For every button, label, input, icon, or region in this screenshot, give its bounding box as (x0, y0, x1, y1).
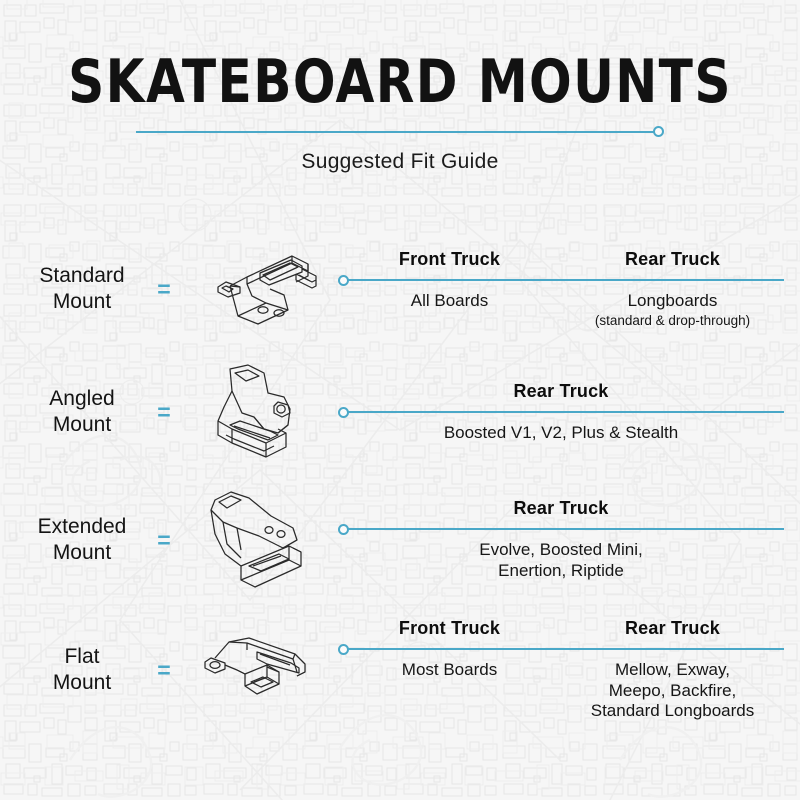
mount-name-angled: Angled Mount (18, 386, 146, 438)
truck-column-rear: Rear Truck (338, 498, 784, 522)
mount-row-flat: Flat Mount = (0, 604, 800, 736)
truck-column-rear: Rear Truck (561, 618, 784, 642)
truck-column-rear-value: Longboards (standard & drop-through) (561, 286, 784, 329)
truck-heading: Front Truck (342, 618, 557, 639)
truck-boards-note: (standard & drop-through) (565, 313, 780, 329)
equals-icon-left: = (146, 529, 182, 552)
fit-info-standard: Front Truck Rear Truck All Boards Long (332, 249, 784, 329)
truck-column-rear: Rear Truck (338, 381, 784, 405)
truck-boards: Boosted V1, V2, Plus & Stealth (342, 423, 780, 444)
row-divider (338, 524, 784, 535)
mount-row-angled: Angled Mount = (0, 348, 800, 476)
truck-boards: All Boards (342, 291, 557, 312)
mount-name-line2: Mount (18, 412, 146, 438)
truck-column-rear-value: Evolve, Boosted Mini, Enertion, Riptide (338, 535, 784, 581)
truck-column-front: Front Truck (338, 249, 561, 273)
mount-name-flat: Flat Mount (18, 644, 146, 696)
row-divider-line (344, 411, 784, 413)
truck-column-front-value: All Boards (338, 286, 561, 329)
equals-icon-left: = (146, 278, 182, 301)
truck-column-rear: Rear Truck (561, 249, 784, 273)
truck-column-rear-value: Mellow, Exway, Meepo, Backfire, Standard… (561, 655, 784, 722)
mount-name-line1: Extended (18, 514, 146, 540)
truck-column-front-value: Most Boards (338, 655, 561, 722)
fit-info-flat: Front Truck Rear Truck Most Boards Mel (332, 618, 784, 722)
truck-boards: Longboards (565, 291, 780, 312)
truck-heading: Rear Truck (565, 249, 780, 270)
row-divider-line (344, 528, 784, 530)
truck-heading: Rear Truck (342, 498, 780, 519)
fit-info-extended: Rear Truck Evolve, Boosted Mini, Enertio… (332, 498, 784, 581)
infographic-page: SKATEBOARD MOUNTS Suggested Fit Guide St… (0, 0, 800, 800)
mount-name-line2: Mount (18, 670, 146, 696)
angled-mount-drawing (182, 360, 332, 464)
truck-headings-row: Front Truck Rear Truck (338, 249, 784, 273)
circle-endpoint-icon (338, 407, 349, 418)
truck-boards: Most Boards (342, 660, 557, 681)
mount-row-standard: Standard Mount = (0, 230, 800, 348)
title-divider (136, 126, 664, 138)
truck-heading: Front Truck (342, 249, 557, 270)
equals-icon-left: = (146, 659, 182, 682)
truck-values-row: All Boards Longboards (standard & drop-t… (338, 286, 784, 329)
circle-endpoint-icon (653, 126, 664, 137)
truck-column-rear-value: Boosted V1, V2, Plus & Stealth (338, 418, 784, 444)
equals-icon-left: = (146, 401, 182, 424)
mount-name-line1: Standard (18, 263, 146, 289)
truck-values-row: Evolve, Boosted Mini, Enertion, Riptide (338, 535, 784, 581)
truck-headings-row: Front Truck Rear Truck (338, 618, 784, 642)
truck-headings-row: Rear Truck (338, 381, 784, 405)
mount-name-extended: Extended Mount (18, 514, 146, 566)
row-divider (338, 407, 784, 418)
row-divider (338, 275, 784, 286)
fit-info-angled: Rear Truck Boosted V1, V2, Plus & Stealt… (332, 381, 784, 444)
truck-heading: Rear Truck (342, 381, 780, 402)
mount-name-line2: Mount (18, 289, 146, 315)
row-divider-line (344, 648, 784, 650)
mount-rows: Standard Mount = (0, 230, 800, 736)
truck-heading: Rear Truck (565, 618, 780, 639)
circle-endpoint-icon (338, 524, 349, 535)
standard-mount-drawing (182, 237, 332, 341)
page-title: SKATEBOARD MOUNTS (28, 52, 772, 112)
flat-mount-drawing (182, 618, 332, 722)
mount-name-line2: Mount (18, 540, 146, 566)
extended-mount-drawing (182, 488, 332, 592)
mount-name-line1: Flat (18, 644, 146, 670)
row-divider (338, 644, 784, 655)
page-subtitle: Suggested Fit Guide (0, 150, 800, 174)
mount-name-standard: Standard Mount (18, 263, 146, 315)
truck-column-front: Front Truck (338, 618, 561, 642)
mount-row-extended: Extended Mount = (0, 476, 800, 604)
title-divider-line (136, 131, 658, 133)
row-divider-line (344, 279, 784, 281)
circle-endpoint-icon (338, 644, 349, 655)
mount-name-line1: Angled (18, 386, 146, 412)
circle-endpoint-icon (338, 275, 349, 286)
header: SKATEBOARD MOUNTS Suggested Fit Guide (0, 0, 800, 174)
truck-boards: Mellow, Exway, Meepo, Backfire, Standard… (565, 660, 780, 722)
truck-boards: Evolve, Boosted Mini, Enertion, Riptide (342, 540, 780, 581)
truck-headings-row: Rear Truck (338, 498, 784, 522)
truck-values-row: Most Boards Mellow, Exway, Meepo, Backfi… (338, 655, 784, 722)
truck-values-row: Boosted V1, V2, Plus & Stealth (338, 418, 784, 444)
